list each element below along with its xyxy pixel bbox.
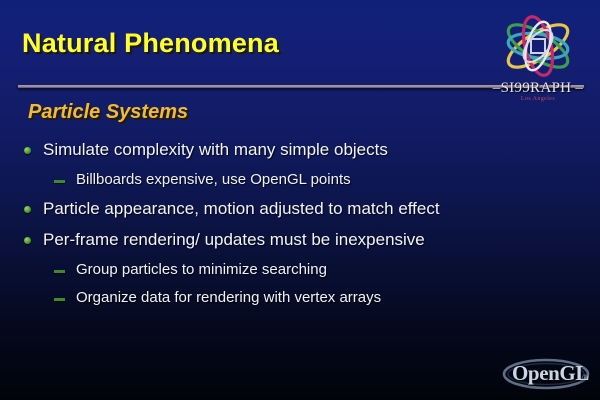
siggraph-location-label: Los Angeles: [484, 96, 592, 102]
list-item-label: Simulate complexity with many simple obj…: [43, 138, 388, 162]
green-dot-bullet-icon: [24, 147, 31, 154]
list-item: Group particles to minimize searching: [0, 259, 600, 281]
list-item-label: Organize data for rendering with vertex …: [76, 287, 381, 309]
list-item-label: Group particles to minimize searching: [76, 259, 327, 281]
opengl-trademark-symbol: ®: [582, 373, 588, 382]
list-item: Billboards expensive, use OpenGL points: [0, 169, 600, 191]
bullet-list: Simulate complexity with many simple obj…: [0, 138, 600, 315]
list-item-label: Particle appearance, motion adjusted to …: [43, 197, 440, 221]
list-item: Organize data for rendering with vertex …: [0, 287, 600, 309]
green-dash-bullet-icon: [54, 270, 65, 273]
opengl-logo: OpenGL ®: [498, 354, 598, 394]
green-dot-bullet-icon: [24, 237, 31, 244]
siggraph-wordmark: –SI99RAPH –: [484, 80, 592, 97]
siggraph-rings-icon: [492, 10, 584, 82]
green-dash-bullet-icon: [54, 298, 65, 301]
list-item-label: Billboards expensive, use OpenGL points: [76, 169, 351, 191]
slide-title: Natural Phenomena: [22, 28, 279, 59]
slide-subtitle: Particle Systems: [28, 101, 188, 124]
siggraph-logo: –SI99RAPH – Los Angeles: [484, 10, 592, 104]
green-dash-bullet-icon: [54, 180, 65, 183]
green-dot-bullet-icon: [24, 206, 31, 213]
opengl-wordmark: OpenGL: [512, 361, 589, 386]
slide: Natural Phenomena Particle Systems Simul…: [0, 0, 600, 400]
list-item: Particle appearance, motion adjusted to …: [0, 197, 600, 221]
list-item: Simulate complexity with many simple obj…: [0, 138, 600, 162]
list-item: Per-frame rendering/ updates must be ine…: [0, 228, 600, 252]
list-item-label: Per-frame rendering/ updates must be ine…: [43, 228, 425, 252]
